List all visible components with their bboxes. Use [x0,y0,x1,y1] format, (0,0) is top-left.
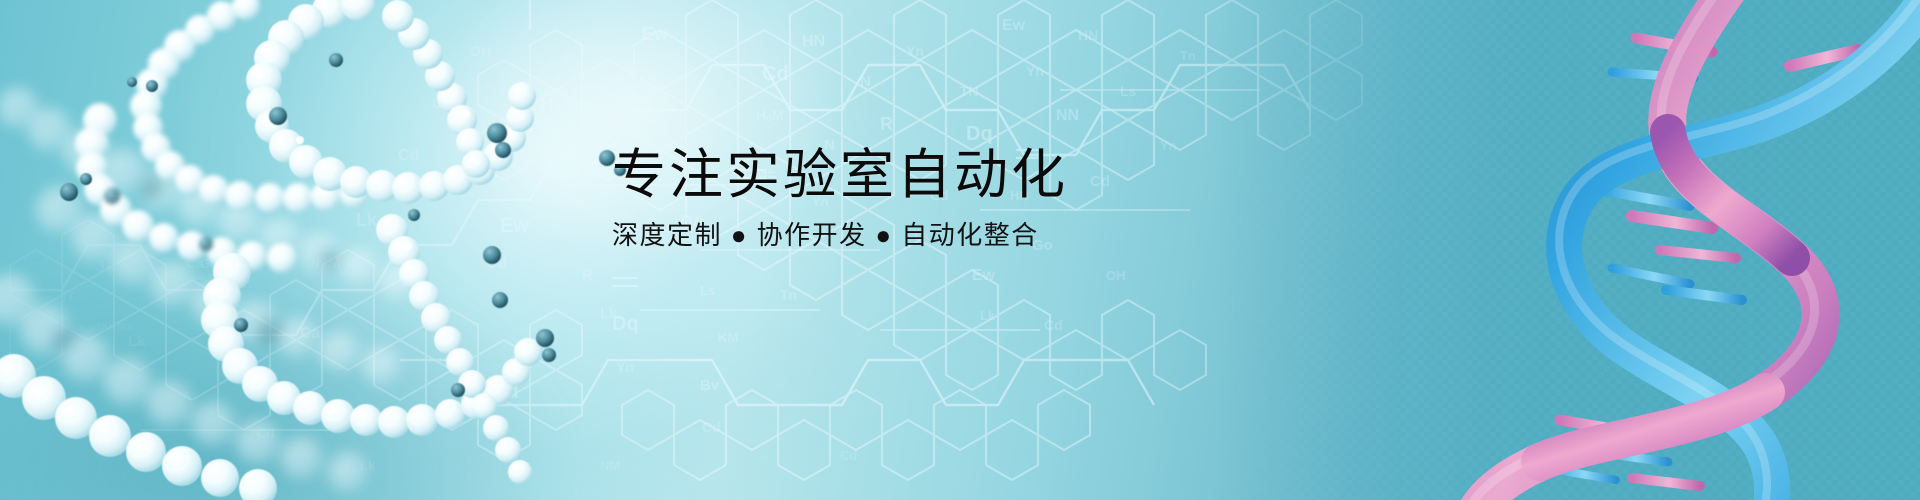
banner-text-block: 专注实验室自动化 深度定制 ● 协作开发 ● 自动化整合 [0,0,1920,500]
banner-subtitle: 深度定制 ● 协作开发 ● 自动化整合 [612,218,1312,252]
banner-headline: 专注实验室自动化 [612,146,1272,204]
hero-banner: Q J₀ Tr Lk Lk+Ls_u2Kj+IRs Ca H₀N= GH Lk … [0,0,1920,500]
